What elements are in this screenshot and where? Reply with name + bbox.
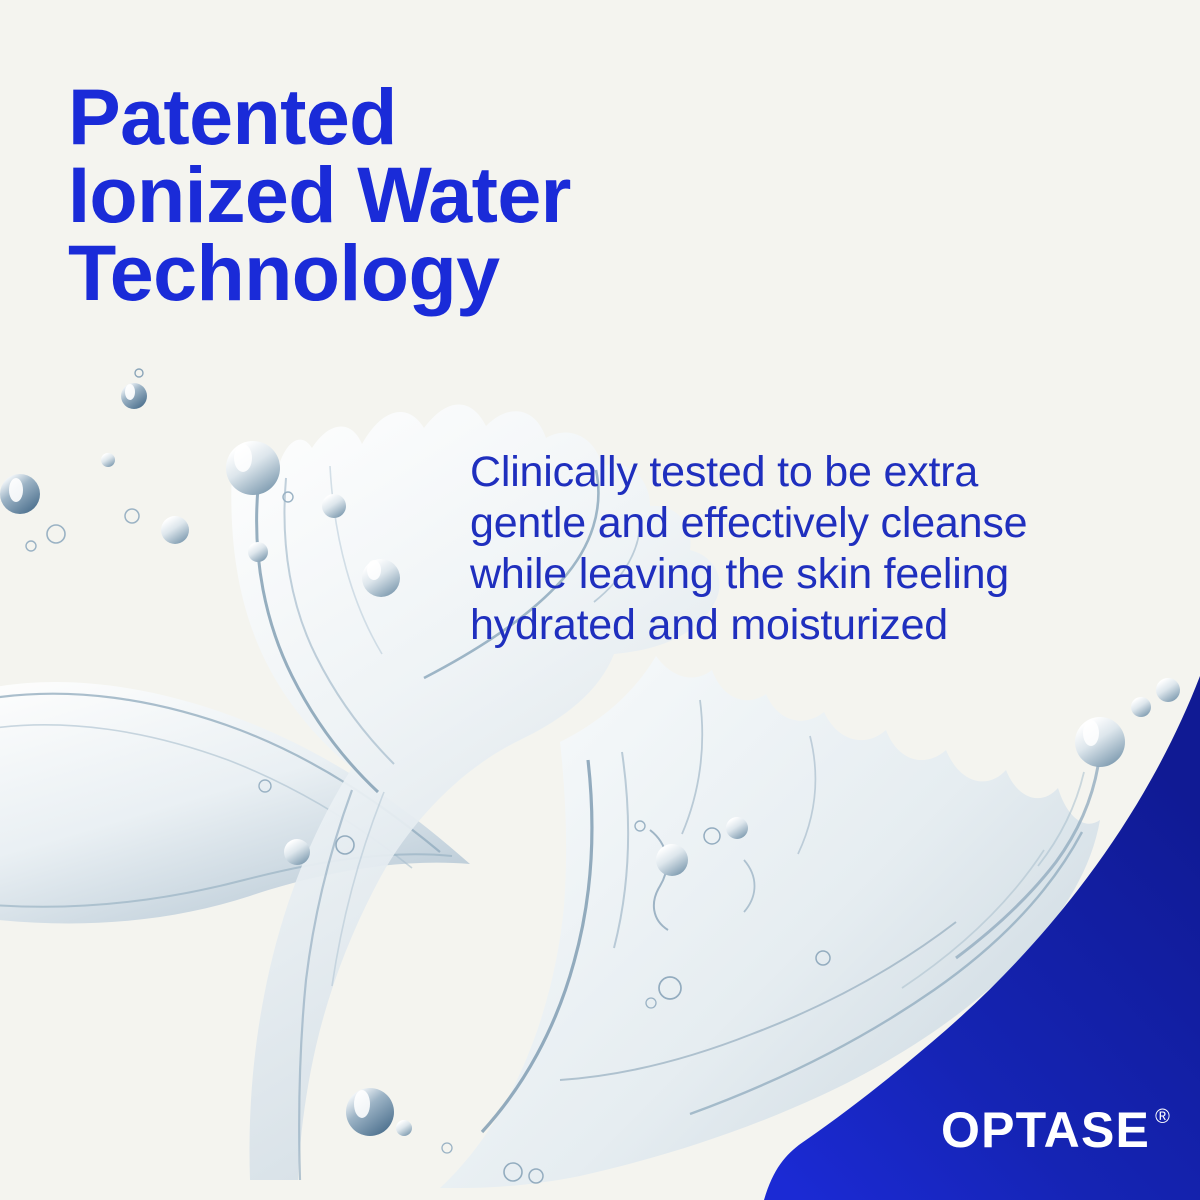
brand-logo: OPTASE ® <box>941 1105 1170 1155</box>
promo-image-canvas: Patented Ionized Water Technology Clinic… <box>0 0 1200 1200</box>
registered-trademark-icon: ® <box>1155 1107 1170 1127</box>
supporting-copy: Clinically tested to be extra gentle and… <box>470 447 1160 652</box>
brand-wordmark: OPTASE <box>941 1105 1150 1155</box>
page-headline: Patented Ionized Water Technology <box>68 78 788 313</box>
